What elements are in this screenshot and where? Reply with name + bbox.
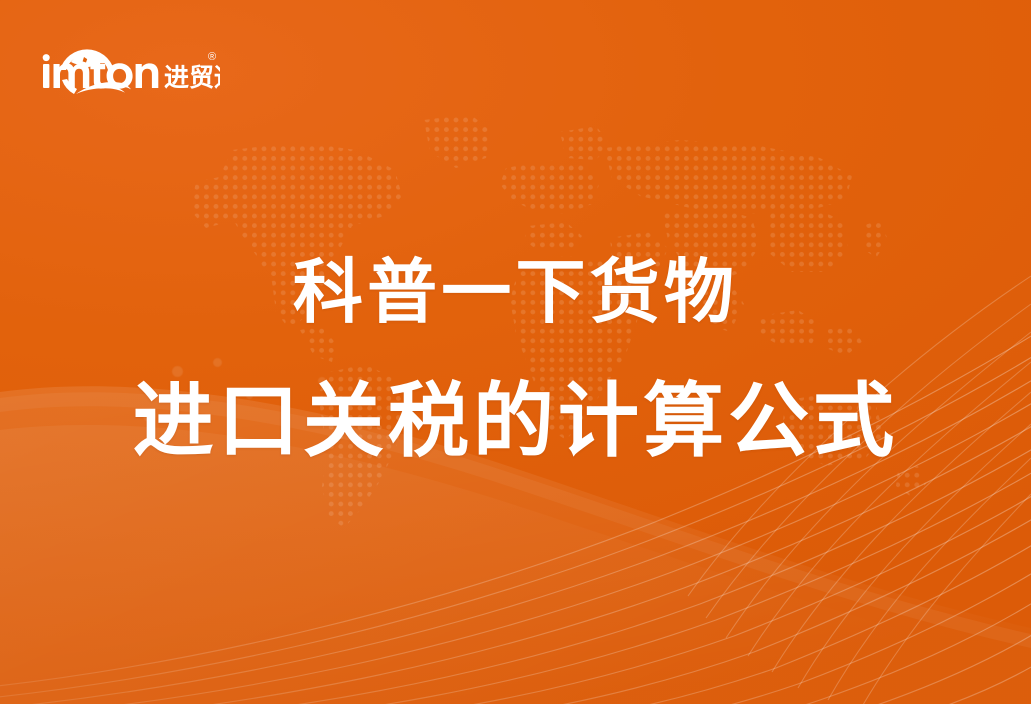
headline-line-2: 进口关税的计算公式 (0, 372, 1031, 472)
logo-chinese-text: 进贸通 (164, 63, 220, 92)
poster-canvas: 进贸通 ® 科普一下货物 进口关税的计算公式 (0, 0, 1031, 704)
background-gradient (0, 0, 1031, 704)
headline-line-1: 科普一下货物 (0, 248, 1031, 336)
brand-logo[interactable]: 进贸通 ® (40, 26, 220, 102)
registered-mark-icon: ® (208, 51, 216, 63)
